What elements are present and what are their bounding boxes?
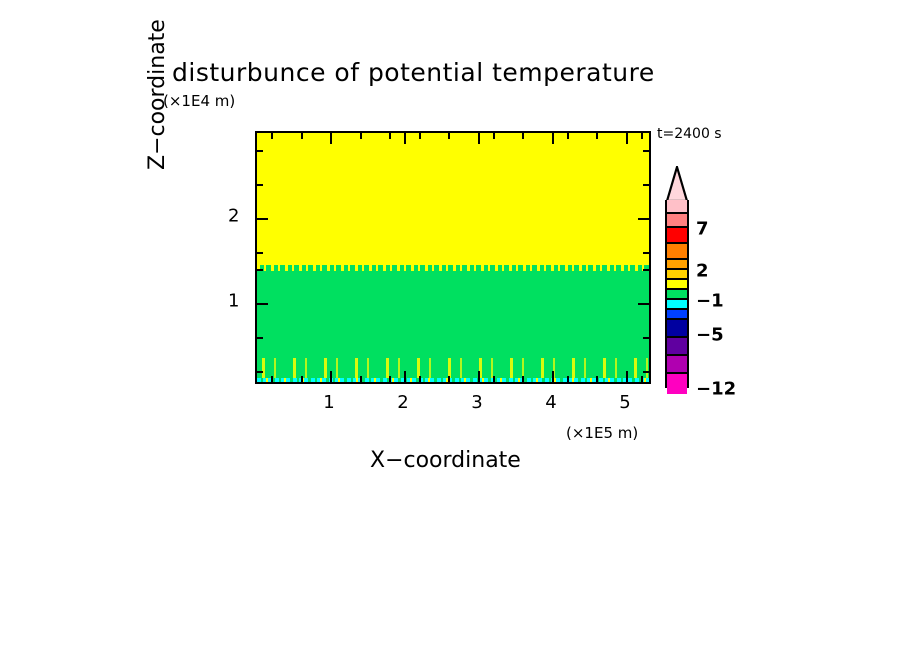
field-interface-boundary: [257, 265, 649, 271]
x-tick-minor: [596, 376, 598, 382]
x-tick-label: 5: [619, 392, 630, 413]
colorbar-swatch: [667, 356, 687, 374]
x-tick-top-minor: [360, 133, 362, 139]
colorbar-swatch: [667, 290, 687, 300]
x-tick-minor: [641, 376, 643, 382]
colorbar-swatch: [667, 260, 687, 270]
x-tick-major: [330, 371, 332, 382]
y-tick-minor: [257, 337, 263, 339]
field-surface-layer: [257, 382, 649, 384]
colorbar-swatches: [665, 200, 689, 388]
y-tick-right-major: [638, 218, 649, 220]
x-tick-top-minor: [301, 133, 303, 139]
x-axis-units-label: (×1E5 m): [566, 424, 638, 442]
y-tick-minor: [257, 184, 263, 186]
y-tick-right-minor: [643, 150, 649, 152]
x-tick-minor: [567, 376, 569, 382]
field-upper-yellow-layer: [257, 133, 649, 269]
x-tick-major: [552, 371, 554, 382]
colorbar-swatch: [667, 280, 687, 290]
y-tick-major: [257, 218, 268, 220]
x-tick-top-minor: [271, 133, 273, 139]
colorbar-tick-label: 7: [696, 219, 709, 240]
colorbar-tick-label: 2: [696, 261, 709, 282]
colorbar-swatch: [667, 228, 687, 244]
figure-canvas: disturbunce of potential temperature (×1…: [0, 0, 904, 654]
y-tick-right-major: [638, 303, 649, 305]
colorbar: [665, 166, 689, 388]
x-tick-top-minor: [596, 133, 598, 139]
plot-area: [255, 131, 651, 384]
x-tick-top-major: [478, 133, 480, 144]
x-tick-minor: [389, 376, 391, 382]
colorbar-swatch: [667, 374, 687, 394]
x-tick-top-minor: [522, 133, 524, 139]
colorbar-swatch: [667, 214, 687, 228]
x-tick-label: 4: [545, 392, 556, 413]
x-tick-top-minor: [389, 133, 391, 139]
y-tick-right-minor: [643, 337, 649, 339]
x-tick-label: 1: [323, 392, 334, 413]
x-tick-minor: [271, 376, 273, 382]
x-tick-major: [478, 371, 480, 382]
x-tick-minor: [522, 376, 524, 382]
page-title: disturbunce of potential temperature: [172, 58, 655, 87]
y-tick-minor: [257, 150, 263, 152]
y-tick-minor: [257, 252, 263, 254]
x-tick-top-major: [626, 133, 628, 144]
y-tick-label: 1: [228, 291, 239, 312]
x-tick-top-major: [330, 133, 332, 144]
x-tick-minor: [419, 376, 421, 382]
x-axis-title: X−coordinate: [370, 448, 521, 473]
y-tick-minor: [257, 371, 263, 373]
colorbar-swatch: [667, 270, 687, 280]
x-tick-top-minor: [419, 133, 421, 139]
colorbar-tick-label: −12: [696, 379, 736, 400]
x-tick-major: [404, 371, 406, 382]
x-tick-label: 2: [397, 392, 408, 413]
x-tick-minor: [360, 376, 362, 382]
y-tick-right-minor: [643, 269, 649, 271]
y-tick-right-minor: [643, 252, 649, 254]
y-tick-right-minor: [643, 371, 649, 373]
y-tick-label: 2: [228, 206, 239, 227]
x-tick-top-major: [404, 133, 406, 144]
y-tick-major: [257, 303, 268, 305]
colorbar-swatch: [667, 300, 687, 310]
x-tick-top-minor: [448, 133, 450, 139]
field-cyan-noise-layer: [257, 378, 649, 384]
y-axis-title: Z−coordinate: [145, 0, 170, 170]
colorbar-tick-label: −1: [696, 291, 724, 312]
x-tick-top-minor: [567, 133, 569, 139]
x-tick-top-major: [552, 133, 554, 144]
colorbar-swatch: [667, 244, 687, 260]
colorbar-swatch: [667, 200, 687, 214]
colorbar-swatch: [667, 320, 687, 338]
field-speckle-layer: [257, 358, 649, 380]
y-tick-right-minor: [643, 184, 649, 186]
x-tick-label: 3: [471, 392, 482, 413]
colorbar-swatch: [667, 338, 687, 356]
x-tick-major: [626, 371, 628, 382]
time-stamp-label: t=2400 s: [657, 126, 722, 142]
x-tick-top-minor: [493, 133, 495, 139]
colorbar-arrow-icon: [665, 166, 689, 202]
y-tick-minor: [257, 269, 263, 271]
x-tick-minor: [493, 376, 495, 382]
x-tick-top-minor: [641, 133, 643, 139]
z-axis-units-label: (×1E4 m): [163, 92, 235, 110]
x-tick-minor: [448, 376, 450, 382]
x-tick-minor: [301, 376, 303, 382]
colorbar-tick-label: −5: [696, 325, 724, 346]
colorbar-swatch: [667, 310, 687, 320]
